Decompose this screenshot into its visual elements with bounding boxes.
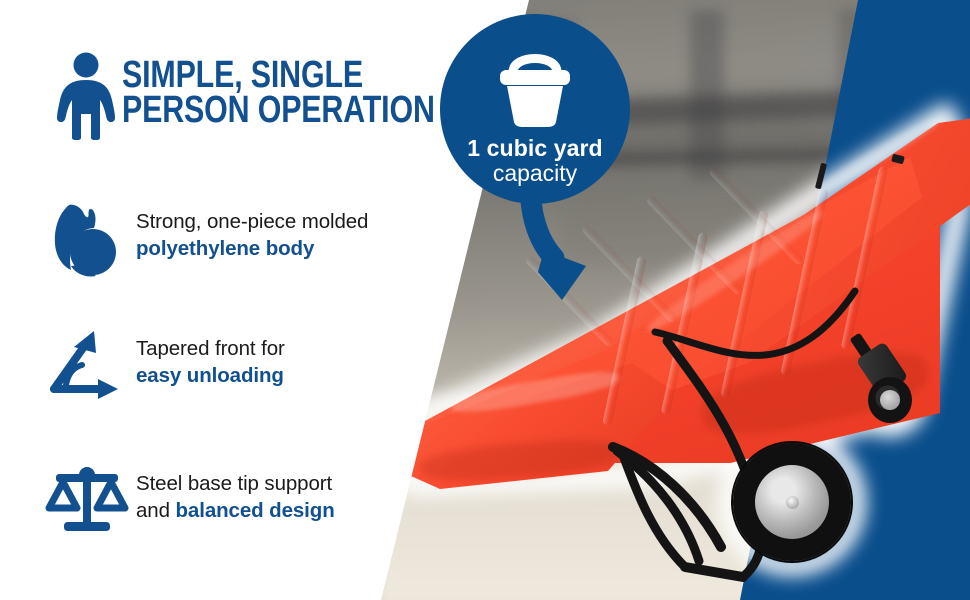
- feature-line-2-prefix: and: [136, 499, 176, 522]
- headline-line-2: PERSON OPERATION: [122, 93, 362, 128]
- feature-line-1: Steel base tip support: [136, 470, 335, 497]
- badge-line-1: 1 cubic yard: [440, 136, 630, 160]
- angle-arrows-icon: [44, 327, 136, 405]
- feature-line-2: balanced design: [176, 499, 335, 522]
- feature-row-easy-unloading: Tapered front for easy unloading: [44, 327, 464, 405]
- feature-line-1: Strong, one-piece molded: [136, 208, 368, 235]
- badge-line-2: capacity: [440, 160, 630, 187]
- headline-line-1: SIMPLE, SINGLE: [122, 58, 362, 93]
- person-icon: [53, 52, 119, 140]
- page-title: SIMPLE, SINGLE PERSON OPERATION: [122, 58, 362, 128]
- capacity-callout-badge: 1 cubic yard capacity: [440, 14, 662, 314]
- badge-circle: 1 cubic yard capacity: [440, 14, 630, 204]
- feature-line-1: Tapered front for: [136, 335, 285, 362]
- balance-scale-icon: [44, 462, 136, 540]
- infographic-canvas: SIMPLE, SINGLE PERSON OPERATION Strong, …: [0, 0, 970, 600]
- flexed-bicep-icon: [44, 200, 136, 278]
- feature-row-balanced-design: Steel base tip support and balanced desi…: [44, 462, 464, 540]
- wheel-large: [733, 443, 851, 561]
- feature-line-2: easy unloading: [136, 362, 285, 389]
- bucket-icon: [496, 46, 574, 128]
- feature-row-polyethylene-body: Strong, one-piece molded polyethylene bo…: [44, 200, 464, 278]
- feature-line-2: polyethylene body: [136, 235, 368, 262]
- wheel-caster: [868, 377, 912, 423]
